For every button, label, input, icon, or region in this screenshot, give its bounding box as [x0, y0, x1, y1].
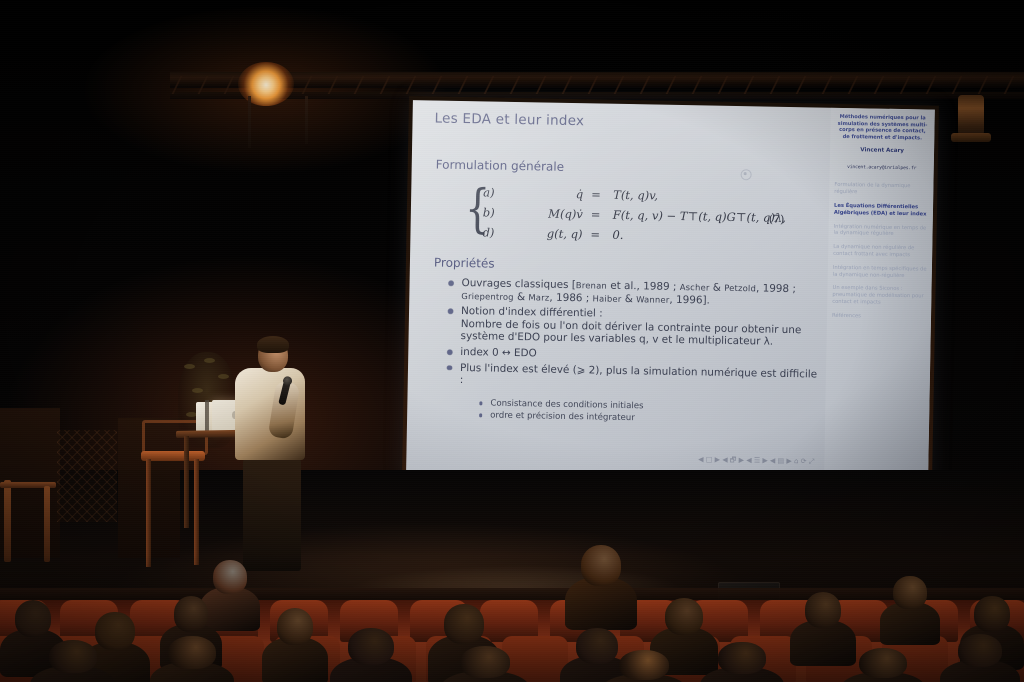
audience-member-head — [174, 596, 209, 632]
section-heading-formulation: Formulation générale — [436, 158, 565, 174]
stage-railing-post-2 — [44, 486, 50, 562]
bullet-dot-icon — [448, 309, 453, 314]
sidebar-toc-item-6[interactable]: Références — [832, 313, 926, 322]
audience-member-head — [168, 636, 215, 669]
equation-rhs: 0. — [612, 228, 623, 242]
sub-bullet-dot-icon — [479, 401, 482, 404]
circle-marker-icon — [741, 169, 752, 180]
warm-spotlight — [238, 62, 294, 106]
beamer-navigation-bar[interactable]: ◀ □ ▶ ◀ 🗗 ▶ ◀ ☰ ▶ ◀ ▤ ▶ ⌂ ⟳ ⤢ — [624, 454, 814, 467]
laptop-hinge — [205, 400, 209, 432]
equation-relation: = — [591, 207, 601, 221]
bullet-item-high-index: Plus l'index est élevé (⩾ 2), plus la si… — [444, 361, 822, 393]
equation-rhs: F(t, q, v) − T⊤(t, q)G⊤(t, q)λ, — [613, 208, 786, 225]
citation-text: & — [514, 291, 529, 303]
bullet-dot-icon — [447, 350, 452, 355]
stage-railing-post — [4, 480, 11, 562]
audience-member-head — [348, 628, 394, 665]
bullet-list: Ouvrages classiques [Brenan et al., 1989… — [443, 277, 824, 429]
audience-member-head — [893, 576, 927, 609]
bullet-text: index 0 ↔ EDO — [460, 346, 537, 359]
slide-sidebar: Méthodes numériques pour la simulation d… — [824, 108, 935, 480]
audience-member-head — [619, 650, 668, 680]
equation-label: d) — [482, 225, 494, 239]
equation-number: (7) — [769, 213, 785, 226]
sub-bullet-text: Consistance des conditions initiales — [490, 398, 643, 411]
table-leg-left — [184, 436, 189, 528]
lattice-screen — [57, 430, 117, 522]
stage-lamp-right — [958, 95, 984, 139]
sidebar-email: vincent.acary@inrialpes.fr — [835, 165, 929, 172]
citation-text: & — [709, 282, 724, 294]
sidebar-table-of-contents[interactable]: Formulation de la dynamique régulièreLes… — [832, 182, 928, 321]
auditorium-photo: Les EDA et leur index Formulation généra… — [0, 0, 1024, 682]
lighting-truss-lower-rail — [170, 92, 1024, 99]
sidebar-toc-item-4[interactable]: Intégration en temps spécifiques de la d… — [833, 265, 927, 280]
sub-bullet-dot-icon — [479, 413, 482, 416]
slide-title: Les EDA et leur index — [434, 110, 584, 129]
citation-text: , 1996]. — [669, 293, 710, 306]
equation-lhs: M(q)v̇ — [509, 206, 583, 221]
bullet-item-citations: Ouvrages classiques [Brenan et al., 1989… — [445, 277, 823, 309]
audience-member-head — [958, 634, 1003, 667]
sidebar-toc-item-5[interactable]: Un exemple dans Siconos : pneumatique de… — [832, 285, 926, 307]
citation-text: Ouvrages classiques [ — [461, 277, 575, 291]
bullet-item-index-notion: Notion d'index différentiel : Nombre de … — [444, 305, 823, 350]
citation-author: Brenan — [576, 280, 607, 291]
bullet-dot-icon — [449, 281, 454, 286]
citation-text: , 1986 ; — [549, 291, 592, 304]
section-heading-proprietes: Propriétés — [434, 255, 495, 270]
stool-leg-right — [194, 459, 199, 565]
equation-lhs: q̇ — [509, 186, 583, 201]
audience-member-head — [718, 642, 765, 674]
audience-member-head — [49, 640, 97, 673]
lighting-truss — [170, 72, 1024, 88]
audience-member-head — [665, 598, 703, 635]
citation-text: & — [621, 293, 636, 305]
equation-block: { a) q̇ = T(t, q)v, b) M(q)v̇ = F(t, q, … — [460, 185, 791, 251]
audience-member-head — [444, 604, 484, 644]
citation-author: Marz — [528, 292, 549, 302]
sidebar-author: Vincent Acary — [835, 147, 929, 155]
equation-rhs: T(t, q)v, — [613, 188, 658, 203]
citation-text: et al., 1989 ; — [607, 280, 680, 293]
sub-bullet-text: ordre et précision des intégrateur — [490, 410, 635, 423]
rig-drop-cable-b — [305, 96, 308, 144]
audience-member-head — [95, 612, 134, 650]
bullet-dot-icon — [447, 365, 452, 370]
bullet-continuation-text: Nombre de fois ou l'on doit dériver la c… — [460, 318, 822, 350]
citation-author: Haiber — [592, 293, 621, 304]
stool-leg-left — [146, 459, 151, 567]
citation-text: , 1998 ; — [756, 282, 796, 295]
equation-label: b) — [483, 205, 495, 219]
presenter-hair — [257, 336, 289, 353]
citation-author: Petzold — [724, 283, 756, 294]
equation-relation: = — [590, 227, 600, 241]
audience-member-head — [805, 592, 842, 628]
sidebar-toc-item-3[interactable]: La dynamique non régulière de contact fr… — [833, 244, 927, 259]
audience-member-head — [213, 560, 247, 594]
sub-bullet-list: Consistance des conditions initiales ord… — [443, 397, 821, 427]
projection-screen-frame: Les EDA et leur index Formulation généra… — [402, 96, 939, 490]
slide-content: Les EDA et leur index Formulation généra… — [406, 100, 831, 478]
citation-author: Griepentrog — [461, 291, 514, 302]
sidebar-toc-item-2[interactable]: Intégration numérique en temps de la dyn… — [833, 223, 927, 238]
presenter-legs — [243, 455, 301, 571]
audience-member-head — [277, 608, 314, 645]
bullet-text: Ouvrages classiques [Brenan et al., 1989… — [461, 277, 796, 306]
citation-author: Ascher — [680, 282, 710, 293]
equation-lhs: g(t, q) — [508, 226, 582, 241]
audience-member-head — [15, 600, 52, 637]
sidebar-toc-item-1[interactable]: Les Équations Différentielles Algébrique… — [834, 203, 928, 218]
sidebar-toc-item-0[interactable]: Formulation de la dynamique régulière — [834, 182, 928, 197]
equation-label: a) — [483, 185, 495, 199]
citation-author: Wanner — [636, 294, 669, 305]
rig-drop-cable-a — [248, 96, 251, 148]
projection-screen: Les EDA et leur index Formulation généra… — [406, 100, 935, 480]
sidebar-presentation-title: Méthodes numériques pour la simulation d… — [835, 114, 929, 142]
audience-member-head — [974, 596, 1010, 632]
audience-member-head — [859, 648, 907, 678]
equation-relation: = — [591, 187, 601, 201]
audience-member-head — [576, 628, 617, 664]
audience-member-head — [460, 646, 510, 678]
house-shadow — [0, 555, 1024, 605]
bullet-text: Plus l'index est élevé (⩾ 2), plus la si… — [460, 362, 817, 387]
audience-member-head — [581, 545, 621, 586]
